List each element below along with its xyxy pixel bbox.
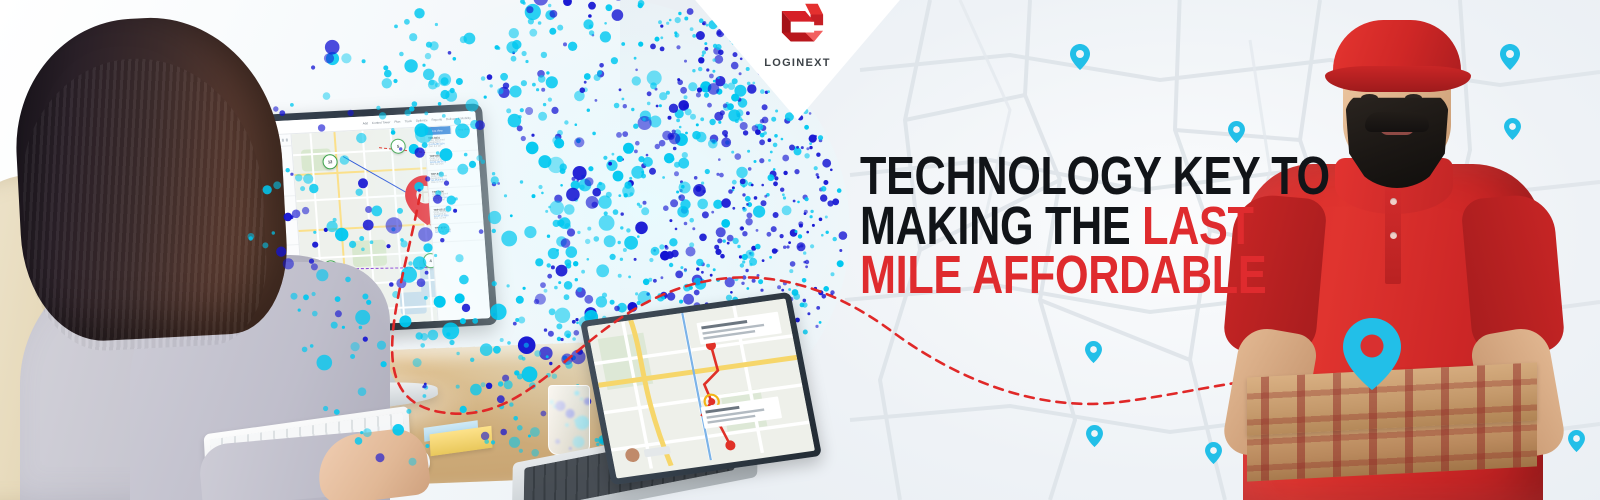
laptop-device xyxy=(500,300,800,500)
headline-block: TECHNOLOGY KEY TO MAKING THE LAST MILE A… xyxy=(820,152,1220,301)
map-pin-icon xyxy=(1086,425,1103,447)
headline-line-3: MILE AFFORDABLE xyxy=(860,251,1180,301)
headline-line-1: TECHNOLOGY KEY TO xyxy=(860,152,1180,202)
laptop-lid xyxy=(580,292,822,485)
headline-line-2: MAKING THE LAST xyxy=(860,202,1180,252)
courier-location-pin-icon xyxy=(1343,318,1401,390)
shirt-button xyxy=(1390,198,1397,205)
map-pin-icon xyxy=(1070,44,1090,70)
shirt-button xyxy=(1390,232,1397,239)
courier-cap-brim xyxy=(1325,66,1471,92)
map-pin-icon xyxy=(1085,341,1102,363)
laptop-screen[interactable] xyxy=(587,298,815,478)
water-glass xyxy=(548,385,590,455)
banner-root: LogiNext Add Control Tower Plan Track Op… xyxy=(0,0,1600,500)
courier-mustache xyxy=(1365,112,1429,132)
loginext-cube-logo-icon xyxy=(771,2,825,54)
brand-name: LOGINEXT xyxy=(764,57,831,69)
